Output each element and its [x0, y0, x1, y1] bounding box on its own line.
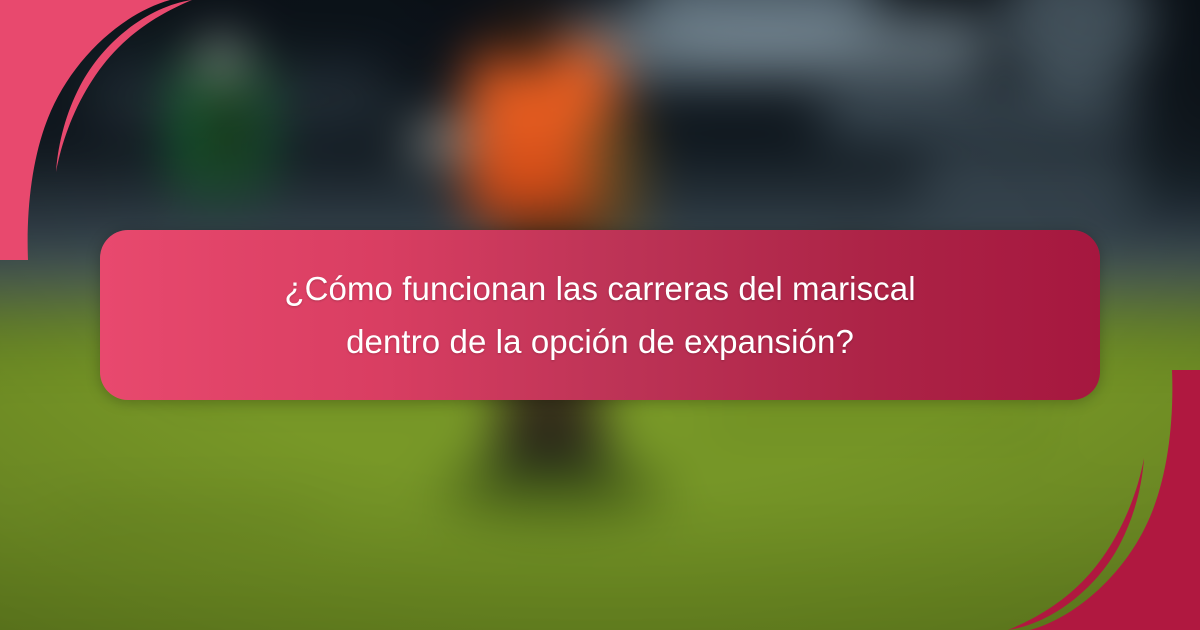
title-banner: ¿Cómo funcionan las carreras del marisca…	[100, 230, 1100, 400]
share-card: ¿Cómo funcionan las carreras del marisca…	[0, 0, 1200, 630]
banner-title: ¿Cómo funcionan las carreras del marisca…	[284, 262, 915, 369]
